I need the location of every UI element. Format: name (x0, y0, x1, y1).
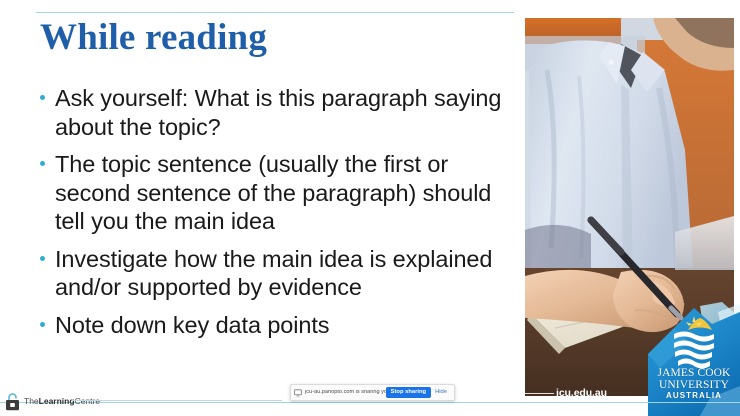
title-divider-rule (36, 12, 514, 13)
page-title: While reading (40, 16, 267, 60)
bullet-dot-icon (40, 322, 45, 327)
list-item: The topic sentence (usually the first or… (36, 150, 518, 236)
screen-share-notification[interactable]: jcu-au.panopto.com is sharing your scree… (290, 384, 455, 401)
bullet-list: Ask yourself: What is this paragraph say… (36, 84, 518, 339)
list-item-text: Note down key data points (55, 312, 329, 338)
url-leader-rule (516, 393, 554, 394)
jcu-name-line1: JAMES COOK (648, 368, 740, 380)
list-item: Ask yourself: What is this paragraph say… (36, 84, 518, 141)
jcu-name-line3: AUSTRALIA (648, 392, 740, 400)
learning-centre-wordmark: TheLearningCentre (24, 397, 100, 406)
monitor-icon (294, 389, 302, 397)
bullet-dot-icon (40, 256, 45, 261)
jcu-logo: JAMES COOK UNIVERSITY AUSTRALIA (648, 302, 740, 416)
list-item-text: Ask yourself: What is this paragraph say… (55, 85, 501, 140)
list-item: Investigate how the main idea is explain… (36, 245, 518, 302)
learning-centre-rule (72, 400, 282, 401)
presentation-slide: While reading Ask yourself: What is this… (0, 0, 740, 416)
footer-rule (0, 402, 740, 403)
list-item: Note down key data points (36, 311, 518, 340)
jcu-name-line2: UNIVERSITY (648, 380, 740, 392)
learning-centre-logo: TheLearningCentre (5, 390, 100, 412)
screen-share-message: jcu-au.panopto.com is sharing your scree… (305, 390, 386, 396)
jcu-wordmark: JAMES COOK UNIVERSITY AUSTRALIA (648, 368, 740, 401)
padlock-icon (5, 392, 20, 411)
tlc-prefix: The (24, 396, 39, 406)
jcu-website-url: jcu.edu.au (556, 387, 607, 399)
bullet-dot-icon (40, 95, 45, 100)
list-item-text: Investigate how the main idea is explain… (55, 246, 492, 301)
bullet-dot-icon (40, 161, 45, 166)
hide-notification-button[interactable]: Hide (431, 387, 451, 399)
list-item-text: The topic sentence (usually the first or… (55, 151, 491, 234)
tlc-bold: Learning (39, 396, 75, 406)
stop-sharing-button[interactable]: Stop sharing (386, 387, 431, 399)
